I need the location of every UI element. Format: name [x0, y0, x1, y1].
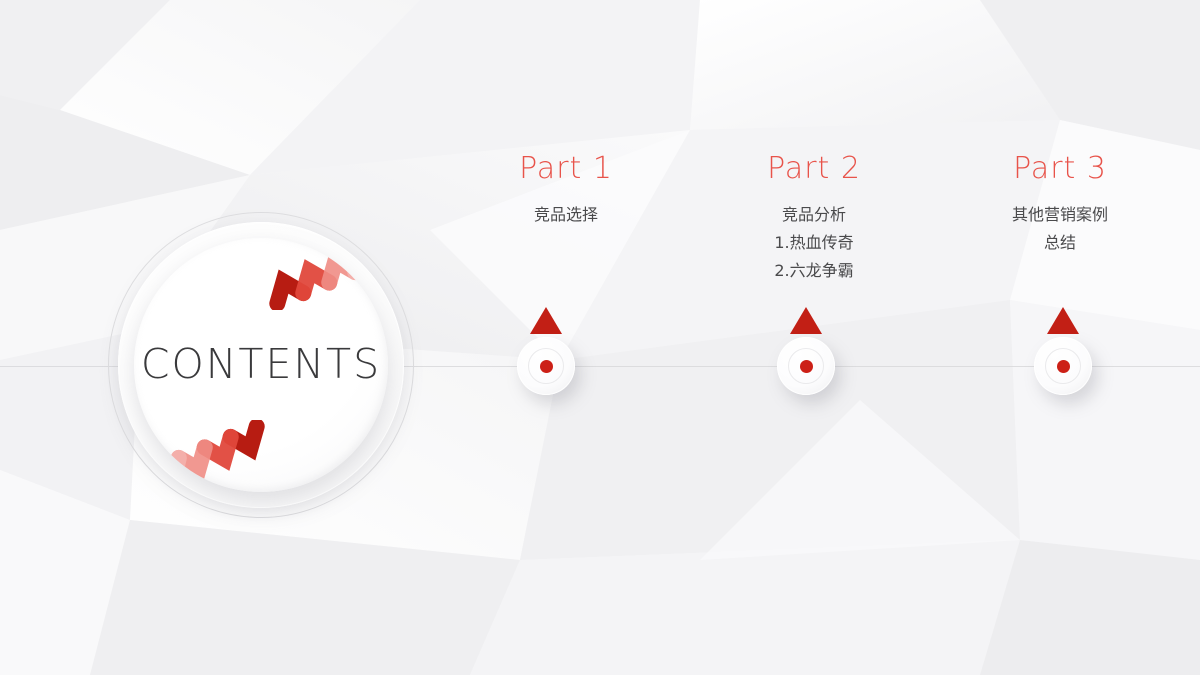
- contents-title: CONTENTS: [134, 340, 388, 388]
- triangle-marker-icon: [1047, 307, 1079, 334]
- node-dot-icon: [1057, 360, 1070, 373]
- part-line: 竞品选择: [446, 201, 686, 229]
- part-lines-2: 竞品分析 1.热血传奇 2.六龙争霸: [694, 201, 934, 285]
- part-column-1: Part 1 竞品选择: [446, 152, 686, 229]
- part-lines-1: 竞品选择: [446, 201, 686, 229]
- triangle-marker-icon: [530, 307, 562, 334]
- node-dot-icon: [800, 360, 813, 373]
- part-line: 1.热血传奇: [694, 229, 934, 257]
- timeline-node-1[interactable]: [517, 337, 575, 395]
- contents-disc: CONTENTS: [134, 238, 388, 492]
- part-title-2: Part 2: [694, 152, 934, 185]
- part-line: 竞品分析: [694, 201, 934, 229]
- timeline-node-2[interactable]: [777, 337, 835, 395]
- node-dot-icon: [540, 360, 553, 373]
- triangle-marker-icon: [790, 307, 822, 334]
- chevron-decoration-top-right: [254, 240, 388, 310]
- timeline-node-3[interactable]: [1034, 337, 1092, 395]
- part-line: 其他营销案例: [940, 201, 1180, 229]
- slide-canvas: CONTENTS Part 1 竞品选择 Part 2 竞品分析 1.热血传奇 …: [0, 0, 1200, 675]
- part-line: 总结: [940, 229, 1180, 257]
- part-lines-3: 其他营销案例 总结: [940, 201, 1180, 257]
- contents-circle: CONTENTS: [108, 212, 414, 518]
- part-column-3: Part 3 其他营销案例 总结: [940, 152, 1180, 257]
- part-column-2: Part 2 竞品分析 1.热血传奇 2.六龙争霸: [694, 152, 934, 285]
- part-title-1: Part 1: [446, 152, 686, 185]
- part-title-3: Part 3: [940, 152, 1180, 185]
- chevron-decoration-bottom-left: [140, 420, 280, 490]
- part-line: 2.六龙争霸: [694, 257, 934, 285]
